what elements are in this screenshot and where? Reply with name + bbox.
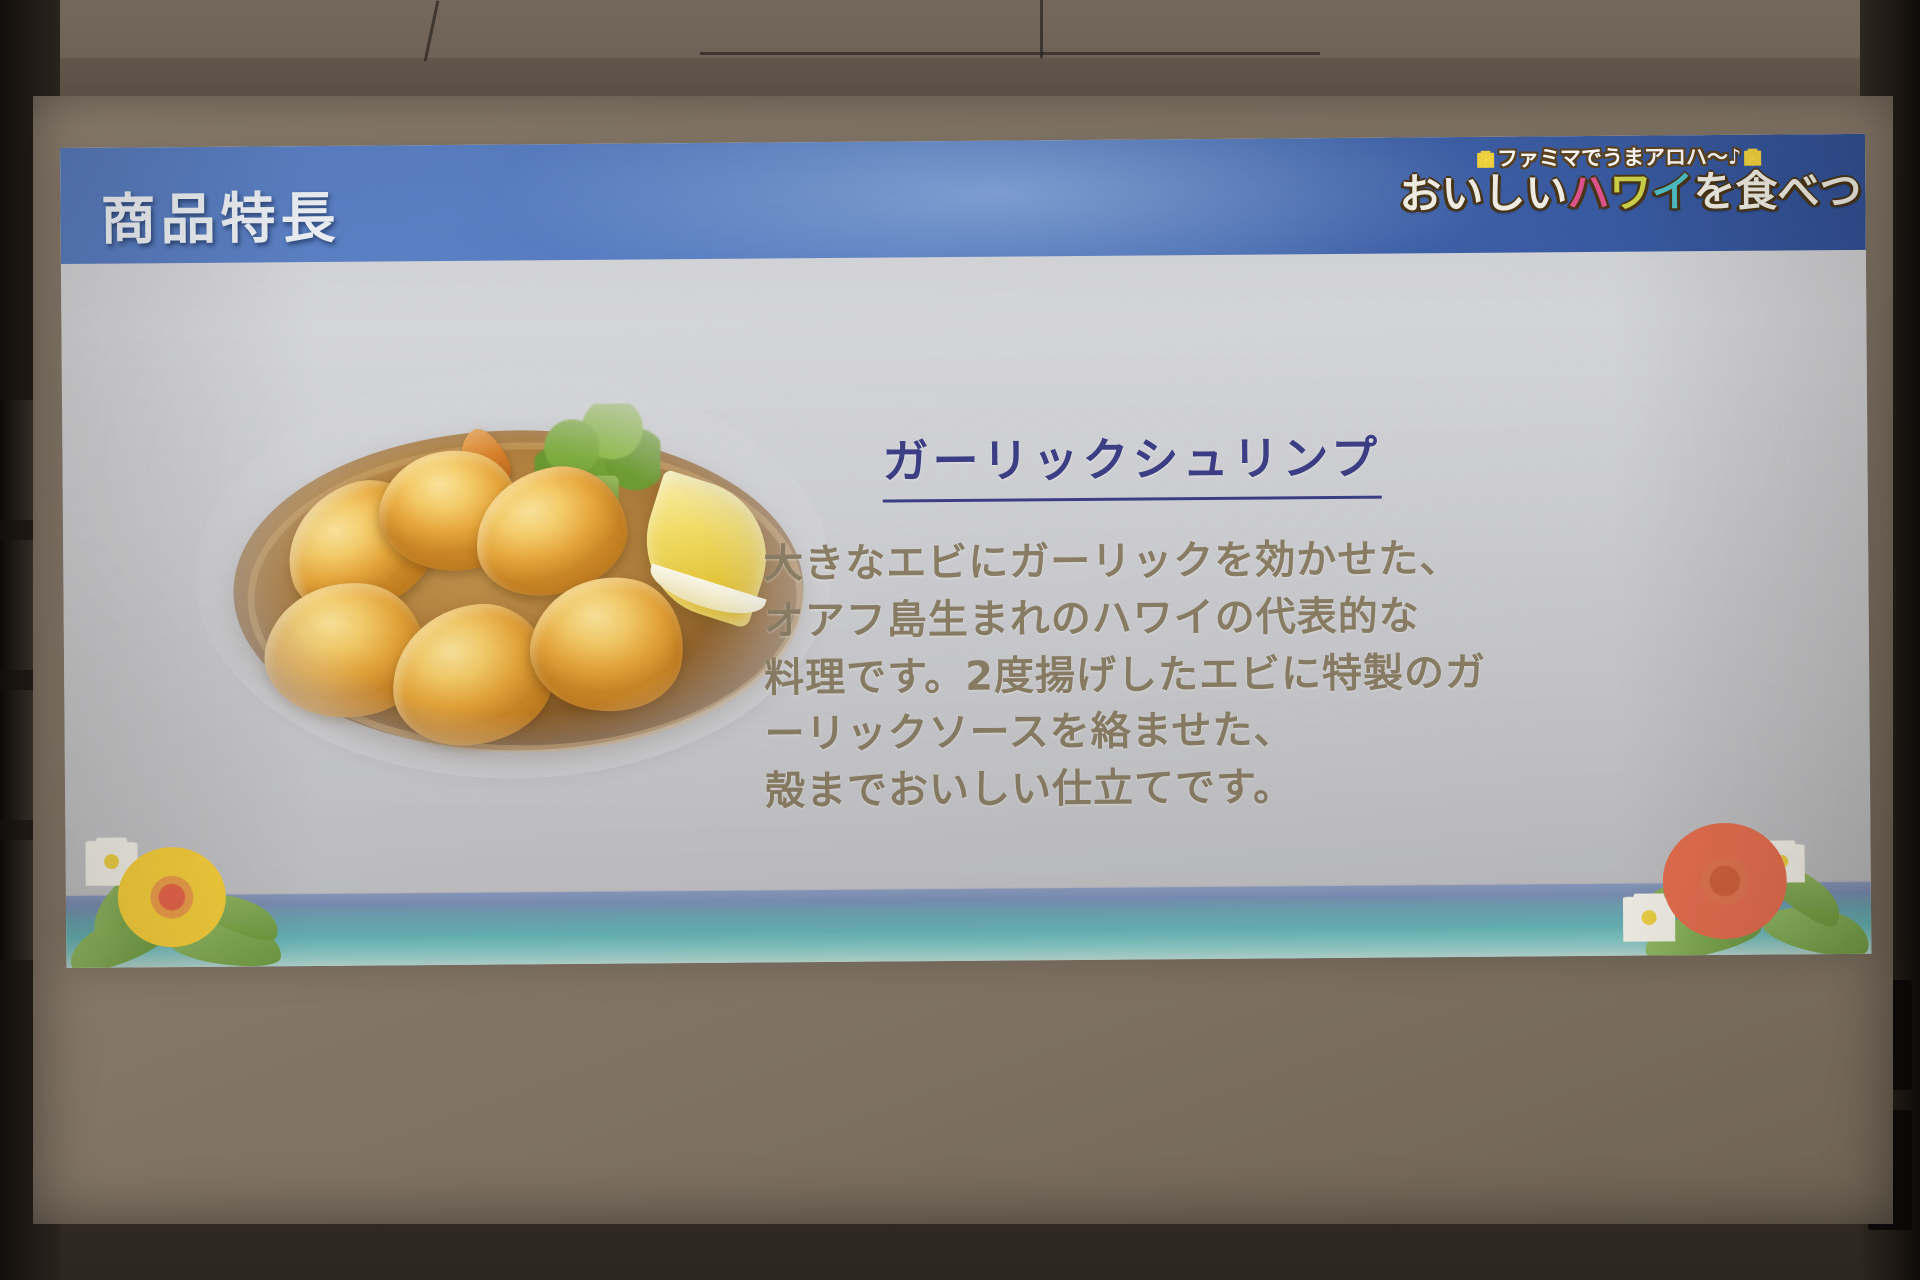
hibiscus-flower-icon [1477,151,1494,168]
yellow-hibiscus-flower [117,847,226,948]
hibiscus-flower-icon [1744,149,1761,166]
description-line: オアフ島生まれのハワイの代表的な [764,587,1524,650]
logo-part-wa: ワ [1609,172,1651,214]
product-name: ガーリックシュリンプ [882,422,1381,503]
release-date-row: 発売日：2025年7月15日（火） [856,965,1497,968]
description-line: ーリックソースを絡ませた、 [764,701,1524,764]
logo-part-rest: を食べつくせ! [1693,169,1871,213]
product-description: 大きなエビにガーリックを効かせた、 オアフ島生まれのハワイの代表的な 料理です。… [763,531,1525,821]
ceiling-seam [1040,0,1043,58]
product-meta: 発売日：2025年7月15日（火） 価格：397円（税込428円） [856,965,1498,968]
campaign-logo-main: おいしいハワイを食べつくせ! [1399,170,1839,215]
flower-cluster-right [1590,824,1871,956]
description-line: 殻までおいしい仕立てです。 [765,758,1525,821]
campaign-logo: ファミマでうまアロハ～♪ おいしいハワイを食べつくせ! [1399,146,1840,245]
logo-part-ha: ハ [1567,172,1609,214]
window-blind-slat [0,400,36,520]
release-date-value: 2025年7月15日（火） [1062,965,1497,968]
slide-body: ガーリックシュリンプ 大きなエビにガーリックを効かせた、 オアフ島生まれのハワイ… [61,250,1871,968]
window-blind-slat [0,690,36,820]
ceiling-seam [700,52,1320,55]
description-line: 大きなエビにガーリックを効かせた、 [763,531,1523,594]
ceiling-panel [0,0,1920,58]
description-line: 料理です。2度揚げしたエビに特製のガ [764,644,1524,707]
orange-hibiscus-flower [1662,822,1787,939]
room-photo: 商品特長 ファミマでうまアロハ～♪ おいしいハワイを食べつくせ! [0,0,1920,1280]
flower-cluster-left [65,836,296,968]
slide-header-band: 商品特長 ファミマでうまアロハ～♪ おいしいハワイを食べつくせ! [60,134,1866,264]
projector-screen: 商品特長 ファミマでうまアロハ～♪ おいしいハワイを食べつくせ! [33,96,1893,1224]
logo-part-oishii: おいしい [1399,172,1567,215]
product-photo [212,388,815,763]
window-blind-slat [0,540,36,670]
page-title: 商品特長 [100,173,341,255]
logo-part-i: イ [1651,171,1693,213]
presentation-slide: 商品特長 ファミマでうまアロハ～♪ おいしいハワイを食べつくせ! [60,134,1871,968]
window-blind-slat [0,840,36,960]
